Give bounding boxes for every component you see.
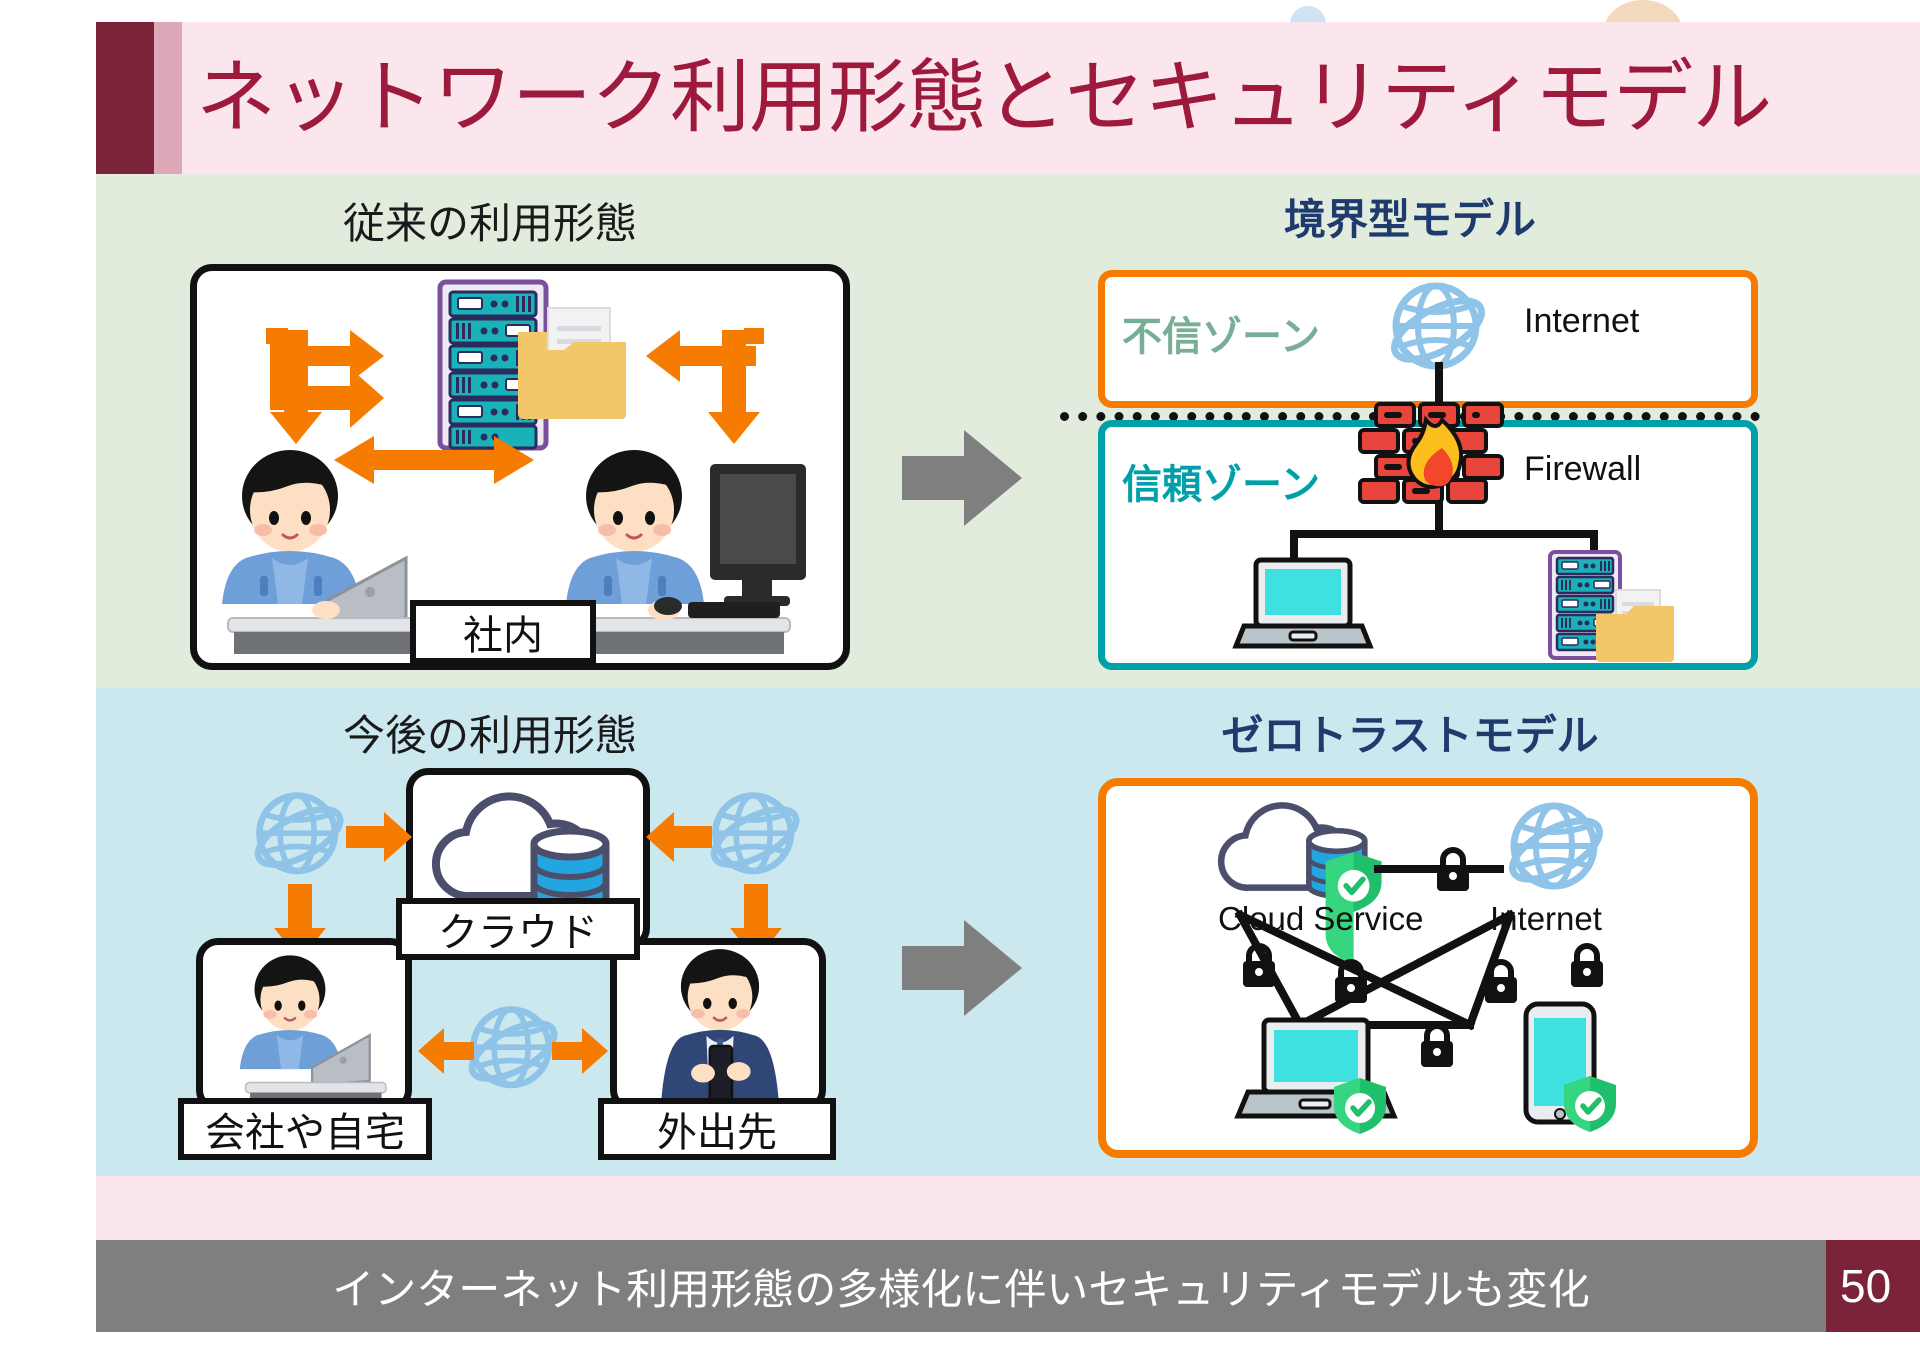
person-laptop-icon [208, 440, 438, 662]
heading-zero-trust-model: ゼロトラストモデル [1060, 702, 1760, 763]
orange-arrow-icon [418, 1028, 474, 1074]
caption-office-home: 会社や自宅 [178, 1098, 432, 1160]
footer-bar: インターネット利用形態の多様化に伴いセキュリティモデルも変化 [96, 1240, 1826, 1332]
cable-trusted-bus [1290, 530, 1598, 538]
folder-icon [1592, 586, 1678, 670]
globe-icon [464, 1000, 564, 1102]
label-untrusted-zone: 不信ゾーン [1122, 304, 1320, 362]
slide-root: ネットワーク利用形態とセキュリティモデル 従来の利用形態 [0, 0, 1920, 1358]
person-desktop-icon [560, 440, 810, 662]
page-title: ネットワーク利用形態とセキュリティモデル [196, 30, 1896, 166]
title-accent-bar-dark [96, 22, 154, 174]
orange-arrow-icon [346, 812, 412, 862]
globe-icon [250, 786, 350, 888]
padlock-icon [1416, 1022, 1458, 1072]
firewall-brick-flame-icon [1372, 402, 1512, 506]
heading-perimeter-model: 境界型モデル [1060, 186, 1760, 247]
globe-icon [706, 786, 806, 888]
laptop-icon [1240, 556, 1366, 656]
label-trusted-zone: 信頼ゾーン [1122, 452, 1320, 510]
caption-cloud: クラウド [396, 898, 640, 960]
heading-future-usage: 今後の利用形態 [190, 702, 790, 763]
label-internet-perimeter: Internet [1524, 302, 1639, 341]
orange-arrow-icon [640, 320, 770, 452]
person-smartphone-icon [634, 944, 806, 1114]
title-accent-bar-light [154, 22, 182, 174]
page-number: 50 [1840, 1259, 1891, 1313]
zone-pink-strip [96, 1176, 1920, 1240]
padlock-icon [1330, 958, 1372, 1008]
orange-arrow-icon [552, 1028, 608, 1074]
folder-document-icon [512, 298, 632, 423]
caption-internal-office: 社内 [410, 600, 596, 664]
caption-outside: 外出先 [598, 1098, 836, 1160]
laptop-shield-icon [1242, 1016, 1402, 1140]
padlock-icon [1566, 942, 1608, 992]
padlock-icon [1432, 846, 1474, 896]
footer-caption: インターネット利用形態の多様化に伴いセキュリティモデルも変化 [332, 1256, 1589, 1317]
person-laptop-icon [212, 948, 396, 1112]
heading-conventional-usage: 従来の利用形態 [190, 190, 790, 251]
transition-arrow-icon [902, 920, 1022, 1016]
label-firewall: Firewall [1524, 450, 1641, 489]
orange-arrow-icon [646, 812, 712, 862]
smartphone-shield-icon [1500, 1000, 1636, 1140]
transition-arrow-icon [902, 430, 1022, 526]
padlock-icon [1238, 942, 1280, 992]
page-number-box: 50 [1826, 1240, 1920, 1332]
